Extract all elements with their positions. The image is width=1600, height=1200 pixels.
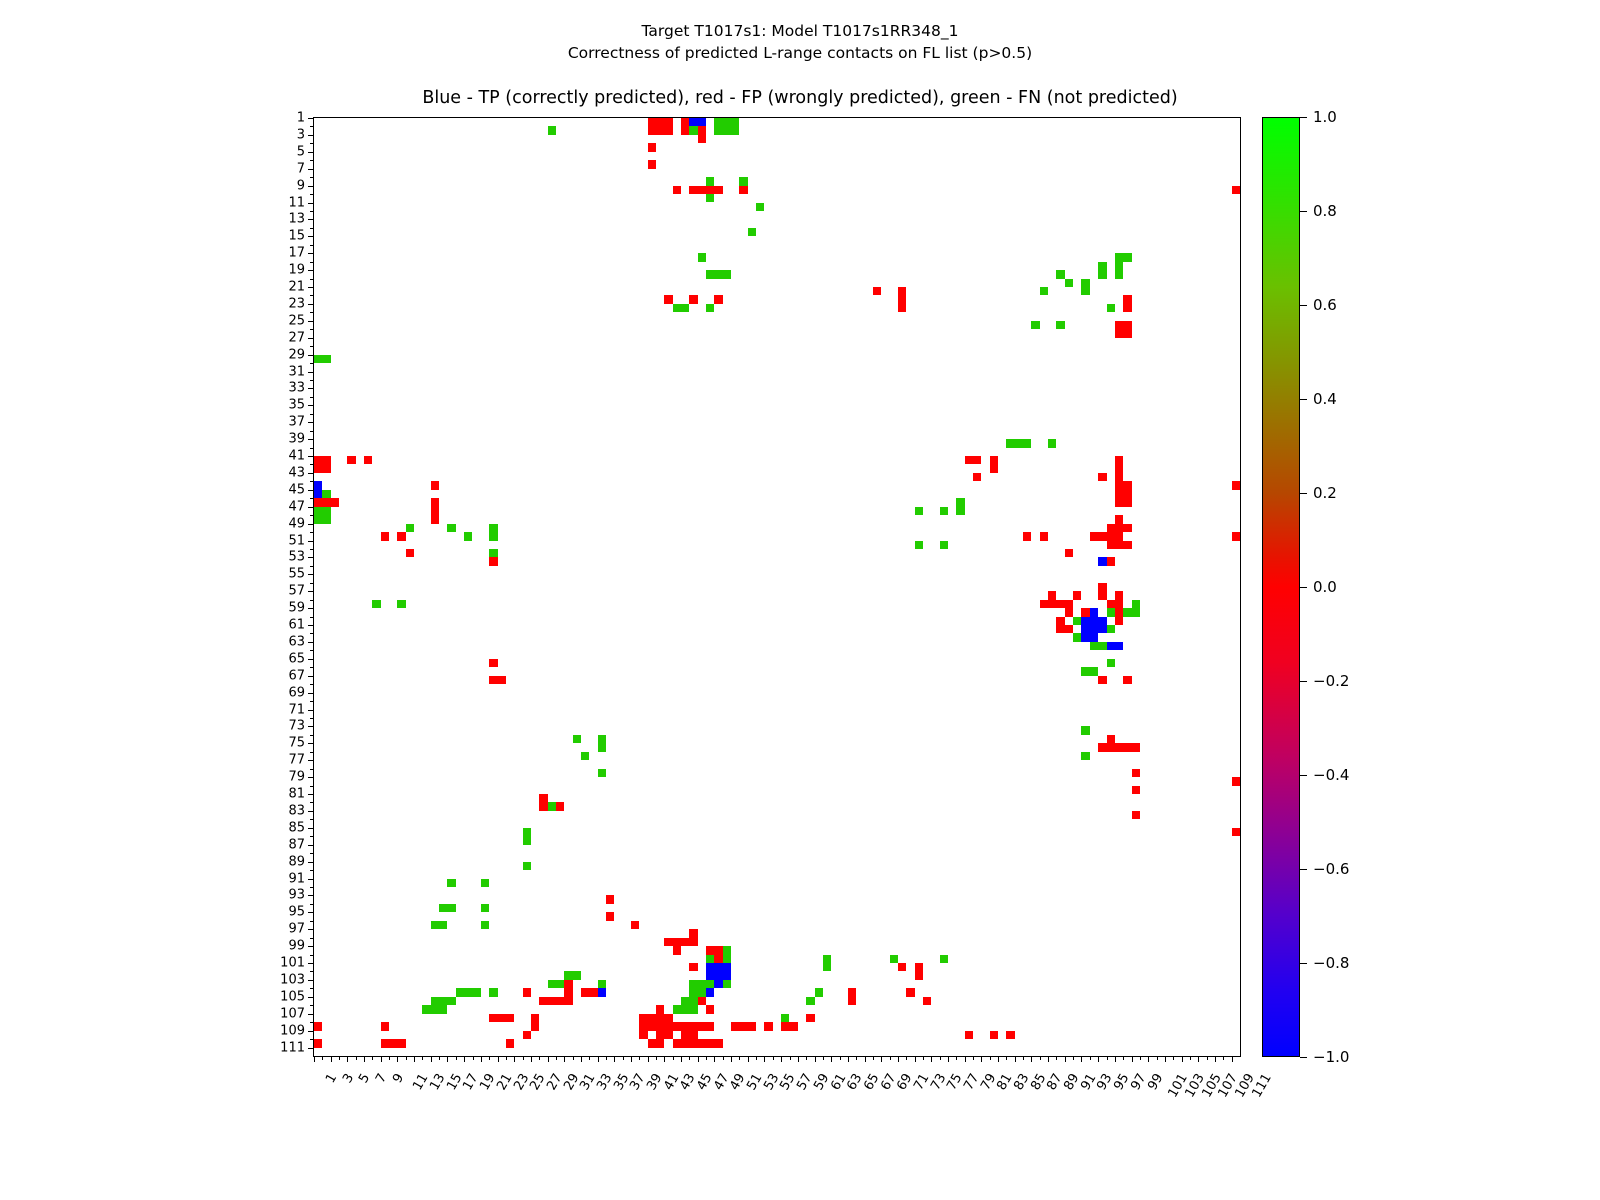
x-axis-tick: [1015, 1056, 1016, 1062]
contact-cell-fp: [1048, 591, 1056, 599]
chart-legend-caption: Blue - TP (correctly predicted), red - F…: [0, 88, 1600, 108]
x-axis-tick-label: 99: [1145, 1071, 1166, 1093]
contact-cell-fp: [1073, 591, 1081, 599]
x-axis-tick: [948, 1056, 949, 1062]
x-axis-tick: [714, 1056, 715, 1062]
x-axis-tick-label: 1: [323, 1071, 340, 1086]
x-axis-tick: [815, 1056, 816, 1062]
contact-cell-fn: [681, 997, 698, 1005]
contact-cell-fn: [548, 802, 556, 810]
y-axis-tick: [308, 625, 314, 626]
y-axis-tick: [310, 1022, 314, 1023]
y-axis-tick: [308, 693, 314, 694]
x-axis-tick: [1148, 1056, 1149, 1062]
colorbar-tick-label: 0.8: [1313, 202, 1337, 220]
y-axis-tick-label: 69: [288, 685, 305, 700]
y-axis-tick: [310, 228, 314, 229]
colorbar-tick: [1300, 117, 1307, 118]
x-axis-tick: [372, 1056, 373, 1060]
contact-cell-fp: [1023, 532, 1031, 540]
colorbar-tick-label: 0.0: [1313, 578, 1337, 596]
colorbar-tick: [1300, 681, 1307, 682]
contact-cell-fn: [915, 541, 923, 549]
y-axis-tick-label: 7: [297, 161, 305, 176]
y-axis-tick: [310, 735, 314, 736]
contact-cell-fp: [1065, 600, 1073, 617]
x-axis-tick: [564, 1056, 565, 1062]
x-axis-tick-label: 7: [373, 1071, 390, 1086]
y-axis-tick-label: 19: [288, 263, 305, 278]
y-axis-tick-label: 89: [288, 854, 305, 869]
contact-cell-fn: [1107, 608, 1115, 616]
y-axis-tick: [310, 380, 314, 381]
x-axis-tick: [1006, 1056, 1007, 1060]
colorbar-tick-label: −0.8: [1313, 954, 1349, 972]
x-axis-tick: [756, 1056, 757, 1060]
y-axis-tick: [308, 287, 314, 288]
contact-cell-fn: [447, 879, 455, 887]
y-axis-tick: [310, 566, 314, 567]
y-axis-tick-label: 85: [288, 820, 305, 835]
contact-cell-fn: [564, 971, 581, 979]
contact-cell-fn: [723, 270, 731, 278]
contact-cell-fp: [397, 532, 405, 540]
contact-cell-fp: [431, 498, 439, 523]
x-axis-tick: [831, 1056, 832, 1062]
x-axis-tick: [923, 1056, 924, 1060]
y-axis-tick: [308, 152, 314, 153]
colorbar-tick: [1300, 211, 1307, 212]
y-axis-tick: [308, 169, 314, 170]
colorbar-tick-label: 1.0: [1313, 108, 1337, 126]
contact-cell-fn: [481, 879, 489, 887]
y-axis-tick: [310, 971, 314, 972]
x-axis-tick-label: 3: [340, 1071, 357, 1086]
y-axis-tick-label: 5: [297, 144, 305, 159]
contact-cell-fp: [1115, 329, 1132, 337]
y-axis-tick: [310, 549, 314, 550]
y-axis-tick-label: 9: [297, 178, 305, 193]
y-axis-tick: [310, 921, 314, 922]
y-axis-tick: [308, 879, 314, 880]
contact-cell-fp: [848, 988, 856, 996]
y-axis-tick: [310, 701, 314, 702]
x-axis-tick: [664, 1056, 665, 1062]
contact-cell-fp: [1115, 456, 1123, 481]
x-axis-tick: [1023, 1056, 1024, 1060]
y-axis-tick: [308, 456, 314, 457]
y-axis-tick: [308, 929, 314, 930]
x-axis-tick: [798, 1056, 799, 1062]
x-axis-tick: [531, 1056, 532, 1062]
contact-cell-fn: [781, 1014, 789, 1022]
contact-cell-fn: [372, 600, 380, 608]
contact-cell-fn: [598, 980, 606, 988]
contact-cell-tp: [314, 481, 322, 498]
y-axis-tick-label: 103: [280, 972, 305, 987]
y-axis-tick: [310, 194, 314, 195]
x-axis-tick: [447, 1056, 448, 1062]
x-axis-tick: [556, 1056, 557, 1060]
x-axis-tick: [606, 1056, 607, 1060]
y-axis-tick: [308, 321, 314, 322]
contact-cell-fn: [756, 203, 764, 211]
y-axis-tick-label: 11: [288, 195, 305, 210]
x-axis-tick: [890, 1056, 891, 1060]
y-axis-tick-label: 105: [280, 989, 305, 1004]
contact-cell-fp: [1115, 321, 1132, 329]
x-axis-tick: [1073, 1056, 1074, 1060]
y-axis-tick: [308, 591, 314, 592]
contact-cell-fn: [406, 524, 414, 532]
contact-cell-fp: [639, 1022, 714, 1030]
y-axis-tick-label: 67: [288, 668, 305, 683]
y-axis-tick: [310, 853, 314, 854]
contact-cell-fp: [739, 186, 747, 194]
contact-cell-fp: [1132, 786, 1140, 794]
x-axis-tick: [1190, 1056, 1191, 1060]
contact-cell-fp: [681, 118, 689, 135]
x-axis-tick: [639, 1056, 640, 1060]
x-axis-tick: [548, 1056, 549, 1062]
contact-cell-fn: [548, 980, 565, 988]
contact-cell-fn: [1048, 439, 1056, 447]
y-axis-tick: [310, 177, 314, 178]
y-axis-tick: [308, 1014, 314, 1015]
y-axis-tick-label: 49: [288, 516, 305, 531]
y-axis-tick: [310, 532, 314, 533]
y-axis-tick: [310, 262, 314, 263]
contact-cell-fn: [489, 549, 497, 557]
y-axis-tick-label: 75: [288, 736, 305, 751]
contact-cell-fp: [406, 549, 414, 557]
y-axis-tick-label: 31: [288, 364, 305, 379]
y-axis-tick: [310, 752, 314, 753]
x-axis-tick: [623, 1056, 624, 1060]
y-axis-tick: [308, 912, 314, 913]
contact-cell-fn: [523, 828, 531, 845]
contact-cell-fn: [598, 769, 606, 777]
chart-title-block: Target T1017s1: Model T1017s1RR348_1 Cor…: [0, 20, 1600, 64]
x-axis-tick: [356, 1056, 357, 1060]
contact-cell-fp: [1098, 676, 1106, 684]
y-axis-tick: [310, 143, 314, 144]
y-axis-tick: [308, 186, 314, 187]
y-axis-tick: [308, 642, 314, 643]
y-axis-tick-label: 87: [288, 837, 305, 852]
y-axis-tick: [308, 743, 314, 744]
contact-cell-fn: [748, 228, 756, 236]
y-axis-tick: [308, 253, 314, 254]
contact-cell-fp: [1107, 541, 1115, 549]
contact-cell-fn: [689, 126, 697, 134]
contact-cell-fn: [431, 997, 456, 1005]
contact-cell-fp: [564, 980, 572, 997]
y-axis-tick-label: 63: [288, 634, 305, 649]
y-axis-tick: [310, 464, 314, 465]
x-axis-tick: [1031, 1056, 1032, 1062]
x-axis-tick: [848, 1056, 849, 1062]
x-axis-tick: [790, 1056, 791, 1060]
contact-cell-tp: [1081, 633, 1098, 641]
contact-cell-fn: [673, 1005, 698, 1013]
contact-cell-fp: [581, 988, 598, 996]
y-axis-tick: [308, 338, 314, 339]
colorbar-tick: [1300, 963, 1307, 964]
colorbar: 1.00.80.60.40.20.0−0.2−0.4−0.6−0.8−1.0: [1262, 117, 1300, 1057]
contact-cell-fp: [698, 997, 706, 1005]
y-axis-tick: [310, 498, 314, 499]
y-axis-tick-label: 39: [288, 432, 305, 447]
contact-cell-fn: [523, 862, 531, 870]
contact-cell-fp: [1107, 735, 1115, 743]
contact-cell-fn: [489, 988, 497, 996]
contact-cell-fn: [940, 955, 948, 963]
y-axis-tick-label: 23: [288, 296, 305, 311]
y-axis-tick: [310, 211, 314, 212]
contact-cell-fn: [714, 118, 739, 135]
contact-cell-tp: [1098, 557, 1106, 565]
y-axis-tick: [310, 397, 314, 398]
x-axis-tick: [981, 1056, 982, 1062]
x-axis-tick: [1140, 1056, 1141, 1060]
x-axis-tick: [915, 1056, 916, 1062]
contact-cell-tp: [1107, 642, 1124, 650]
contact-cell-fp: [1115, 591, 1123, 616]
y-axis-tick: [308, 473, 314, 474]
contact-cell-fp: [656, 1005, 664, 1013]
x-axis-tick: [748, 1056, 749, 1062]
y-axis-tick: [308, 236, 314, 237]
contact-cell-fp: [1123, 295, 1131, 312]
contact-cell-fn: [723, 946, 731, 963]
x-axis-tick: [965, 1056, 966, 1062]
y-axis-tick-label: 57: [288, 584, 305, 599]
contact-cell-fp: [990, 456, 998, 473]
contact-cell-fn: [706, 955, 714, 963]
contact-cell-fp: [664, 938, 689, 946]
contact-cell-fp: [1107, 524, 1132, 532]
y-axis-tick: [310, 431, 314, 432]
x-axis-tick: [589, 1056, 590, 1060]
contact-cell-fp: [1065, 625, 1073, 633]
contact-cell-fp: [648, 118, 673, 135]
x-axis-tick: [514, 1056, 515, 1062]
y-axis-tick: [310, 245, 314, 246]
contact-cell-fn: [1098, 262, 1106, 279]
x-axis-tick: [506, 1056, 507, 1060]
x-axis-tick: [764, 1056, 765, 1062]
y-axis-tick: [310, 312, 314, 313]
y-axis-tick: [308, 676, 314, 677]
contact-cell-fn: [673, 304, 690, 312]
y-axis-tick: [310, 617, 314, 618]
contact-cell-fp: [906, 988, 914, 996]
x-axis-tick: [1090, 1056, 1091, 1060]
contact-cell-fp: [673, 946, 681, 954]
x-axis-tick: [473, 1056, 474, 1060]
x-axis-tick: [631, 1056, 632, 1062]
contact-cell-fn: [1065, 279, 1073, 287]
contact-cell-tp: [706, 988, 714, 996]
y-axis-tick: [310, 160, 314, 161]
y-axis-tick: [310, 295, 314, 296]
x-axis-tick: [881, 1056, 882, 1062]
colorbar-tick: [1300, 587, 1307, 588]
y-axis-tick: [308, 405, 314, 406]
x-axis-tick: [614, 1056, 615, 1062]
contact-cell-tp: [689, 118, 706, 126]
contact-cell-fn: [1107, 659, 1115, 667]
y-axis-tick-label: 101: [280, 956, 305, 971]
y-axis-tick-label: 47: [288, 499, 305, 514]
contact-cell-fn: [456, 988, 481, 996]
x-axis-tick: [314, 1056, 315, 1062]
contact-cell-fp: [1132, 769, 1140, 777]
y-axis-tick: [308, 659, 314, 660]
x-axis-tick: [539, 1056, 540, 1060]
y-axis-tick-label: 81: [288, 787, 305, 802]
y-axis-tick: [308, 828, 314, 829]
y-axis-tick-label: 25: [288, 313, 305, 328]
x-axis-tick: [1232, 1056, 1233, 1062]
y-axis-tick-label: 91: [288, 871, 305, 886]
y-axis-tick-label: 13: [288, 212, 305, 227]
y-axis-tick: [308, 304, 314, 305]
y-axis-tick-label: 93: [288, 888, 305, 903]
contact-map-cells: [314, 118, 1240, 1056]
contact-cell-fn: [698, 980, 715, 988]
x-axis-tick: [973, 1056, 974, 1060]
contact-cell-fp: [314, 1039, 322, 1047]
x-axis-tick: [823, 1056, 824, 1060]
y-axis-tick-label: 21: [288, 280, 305, 295]
y-axis-tick: [310, 887, 314, 888]
y-axis-tick: [308, 997, 314, 998]
y-axis-tick-label: 61: [288, 618, 305, 633]
y-axis-tick-label: 37: [288, 415, 305, 430]
colorbar-tick-label: 0.4: [1313, 390, 1337, 408]
contact-cell-fp: [990, 1031, 998, 1039]
contact-cell-fp: [898, 963, 906, 971]
x-axis-tick: [1157, 1056, 1158, 1060]
contact-cell-fp: [873, 287, 881, 295]
y-axis-tick: [308, 541, 314, 542]
colorbar-tick-label: 0.2: [1313, 484, 1337, 502]
y-axis-tick-label: 73: [288, 719, 305, 734]
y-axis-tick: [308, 946, 314, 947]
contact-cell-fn: [322, 490, 330, 498]
contact-cell-fp: [848, 997, 856, 1005]
contact-cell-fn: [489, 524, 497, 541]
contact-cell-fn: [1115, 253, 1123, 278]
y-axis-tick: [310, 769, 314, 770]
colorbar-tick: [1300, 869, 1307, 870]
y-axis-tick: [310, 633, 314, 634]
y-axis-tick: [308, 135, 314, 136]
y-axis-tick: [308, 726, 314, 727]
x-axis-tick: [931, 1056, 932, 1062]
contact-cell-fp: [1107, 532, 1124, 540]
x-axis-tick: [856, 1056, 857, 1060]
x-axis-tick: [322, 1056, 323, 1060]
y-axis-tick: [308, 710, 314, 711]
y-axis-tick-label: 41: [288, 449, 305, 464]
y-axis-tick: [310, 583, 314, 584]
colorbar-tick-label: −0.4: [1313, 766, 1349, 784]
y-axis-tick: [308, 1031, 314, 1032]
contact-cell-fn: [698, 253, 706, 261]
y-axis-tick: [308, 862, 314, 863]
x-axis-tick: [673, 1056, 674, 1060]
x-axis-tick: [956, 1056, 957, 1060]
y-axis-tick: [310, 600, 314, 601]
contact-cell-fp: [381, 1022, 389, 1030]
y-axis-tick: [310, 414, 314, 415]
contact-cell-fn: [447, 524, 455, 532]
y-axis-tick: [310, 938, 314, 939]
x-axis-tick: [990, 1056, 991, 1060]
y-axis-tick-label: 107: [280, 1006, 305, 1021]
x-axis-tick: [906, 1056, 907, 1060]
y-axis-tick-label: 77: [288, 753, 305, 768]
y-axis-tick: [310, 481, 314, 482]
contact-cell-fp: [381, 1039, 406, 1047]
contact-cell-fp: [673, 186, 681, 194]
contact-cell-fp: [364, 456, 372, 464]
contact-cell-fp: [631, 921, 639, 929]
contact-cell-tp: [714, 980, 722, 988]
contact-cell-fp: [523, 988, 531, 996]
contact-cell-fp: [506, 1039, 514, 1047]
y-axis-tick: [310, 667, 314, 668]
contact-cell-tp: [1081, 617, 1106, 634]
y-axis-tick: [310, 836, 314, 837]
y-axis-tick: [310, 786, 314, 787]
x-axis-tick: [439, 1056, 440, 1060]
contact-cell-fp: [639, 1031, 647, 1039]
contact-cell-fn: [397, 600, 405, 608]
contact-cell-fp: [489, 676, 506, 684]
contact-cell-fn: [1040, 287, 1048, 295]
contact-cell-fp: [648, 1039, 665, 1047]
contact-cell-fn: [915, 507, 923, 515]
contact-cell-fn: [1081, 726, 1089, 734]
y-axis-tick: [308, 608, 314, 609]
contact-cell-fn: [314, 355, 331, 363]
colorbar-tick-label: 0.6: [1313, 296, 1337, 314]
y-axis-tick: [310, 819, 314, 820]
y-axis-tick: [310, 515, 314, 516]
colorbar-tick: [1300, 493, 1307, 494]
contact-cell-fn: [1123, 253, 1131, 261]
x-axis-tick: [1115, 1056, 1116, 1062]
y-axis-tick: [310, 126, 314, 127]
y-axis-tick: [310, 904, 314, 905]
x-axis-tick: [581, 1056, 582, 1062]
x-axis-tick: [573, 1056, 574, 1060]
contact-cell-fn: [1081, 752, 1089, 760]
y-axis-tick: [310, 329, 314, 330]
contact-cell-fn: [689, 980, 697, 988]
x-axis-tick: [498, 1056, 499, 1062]
contact-cell-fn: [689, 988, 706, 996]
y-axis-tick: [310, 718, 314, 719]
y-axis-tick-label: 111: [280, 1040, 305, 1055]
y-axis-tick: [308, 777, 314, 778]
x-axis-tick: [347, 1056, 348, 1062]
contact-cell-fn: [815, 988, 823, 996]
